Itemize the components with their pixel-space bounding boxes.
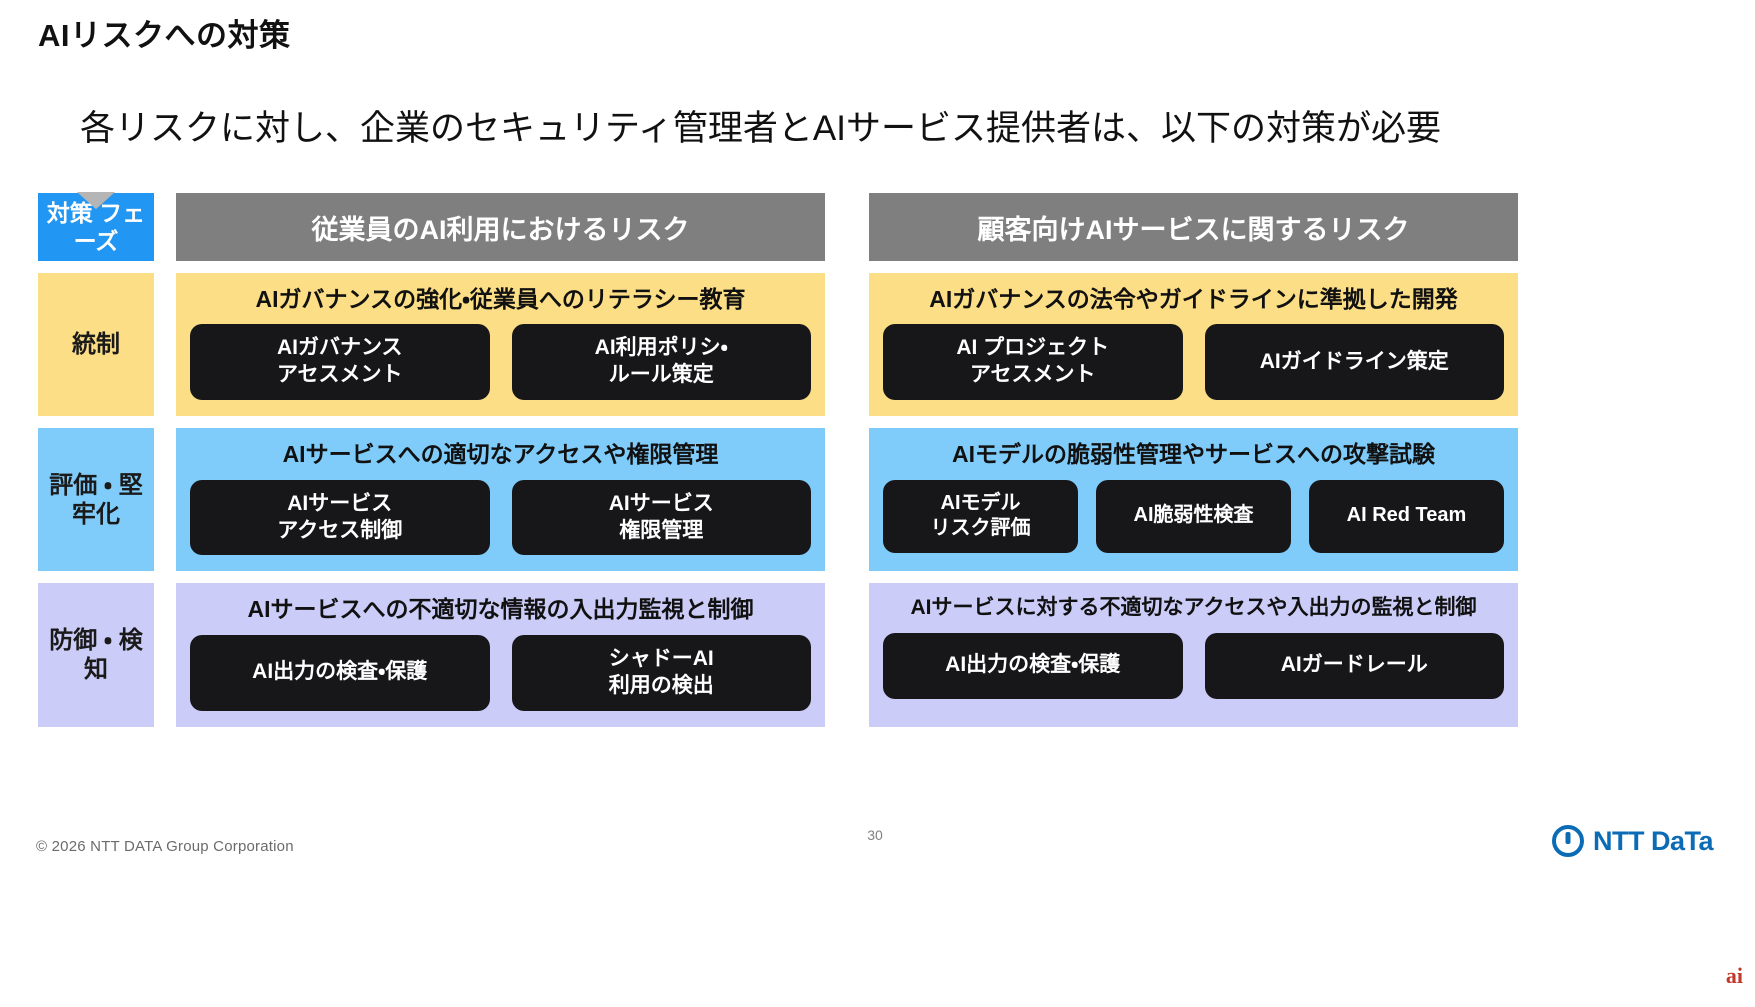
copyright-notice: © 2026 NTT DATA Group Corporation: [36, 838, 294, 855]
panel-heading: AIサービスに対する不適切なアクセスや入出力の監視と制御: [911, 596, 1477, 620]
measure-chip[interactable]: AI出力の検査・保護: [883, 633, 1183, 699]
column-header-customer-risk: 顧客向けAIサービスに関するリスク: [869, 193, 1518, 261]
panel-heading: AIサービスへの適切なアクセスや権限管理: [283, 441, 719, 467]
spacer: [825, 193, 869, 261]
panel-heading: AIガバナンスの法令やガイドラインに準拠した開発: [929, 286, 1458, 312]
measure-chip[interactable]: AI脆弱性検査: [1096, 480, 1291, 553]
measure-chip-row: AIガバナンス アセスメント AI利用ポリシ・ ルール策定: [190, 324, 811, 400]
matrix-header-row: 対策 フェーズ 従業員のAI利用におけるリスク 顧客向けAIサービスに関するリス…: [38, 193, 1518, 261]
panel-control-employee: AIガバナンスの強化・従業員へのリテラシー教育 AIガバナンス アセスメント A…: [176, 273, 825, 416]
spacer: [825, 428, 869, 571]
panel-heading: AIガバナンスの強化・従業員へのリテラシー教育: [256, 286, 746, 312]
phase-label-defense: 防御 ・ 検知: [38, 583, 154, 726]
spacer: [154, 193, 176, 261]
measure-chip[interactable]: AIガードレール: [1205, 633, 1505, 699]
matrix-row-control: 統制 AIガバナンスの強化・従業員へのリテラシー教育 AIガバナンス アセスメン…: [38, 273, 1518, 416]
measure-chip[interactable]: シャドーAI 利用の検出: [512, 635, 812, 711]
spacer: [38, 261, 1518, 273]
measure-chip-row: AI プロジェクト アセスメント AIガイドライン策定: [883, 324, 1504, 400]
page-title: AIリスクへの対策: [38, 10, 291, 55]
panel-heading: AIモデルの脆弱性管理やサービスへの攻撃試験: [952, 441, 1435, 467]
panel-assessment-employee: AIサービスへの適切なアクセスや権限管理 AIサービス アクセス制御 AIサービ…: [176, 428, 825, 571]
phase-flow-arrow-icon: [77, 192, 115, 209]
measure-chip-row: AI出力の検査・保護 シャドーAI 利用の検出: [190, 635, 811, 711]
panel-defense-employee: AIサービスへの不適切な情報の入出力監視と制御 AI出力の検査・保護 シャドーA…: [176, 583, 825, 726]
spacer: [154, 273, 176, 416]
phase-label-control: 統制: [38, 273, 154, 416]
spacer: [825, 273, 869, 416]
ntt-data-logo: NTT DaTa: [1552, 825, 1713, 857]
measure-chip[interactable]: AIガバナンス アセスメント: [190, 324, 490, 400]
measure-chip[interactable]: AI出力の検査・保護: [190, 635, 490, 711]
matrix-row-assessment: 評価 ・ 堅牢化 AIサービスへの適切なアクセスや権限管理 AIサービス アクセ…: [38, 428, 1518, 571]
ntt-data-wordmark: NTT DaTa: [1593, 826, 1713, 857]
spacer: [154, 583, 176, 726]
measure-chip[interactable]: AIガイドライン策定: [1205, 324, 1505, 400]
panel-control-customer: AIガバナンスの法令やガイドラインに準拠した開発 AI プロジェクト アセスメン…: [869, 273, 1518, 416]
measure-chip[interactable]: AI プロジェクト アセスメント: [883, 324, 1183, 400]
spacer: [154, 428, 176, 571]
ntt-data-mark-icon: [1552, 825, 1584, 857]
measure-chip-row: AI出力の検査・保護 AIガードレール: [883, 633, 1504, 699]
slide-subtitle: 各リスクに対し、企業のセキュリティ管理者とAIサービス提供者は、以下の対策が必要: [80, 100, 1441, 151]
measure-chip-row: AIサービス アクセス制御 AIサービス 権限管理: [190, 480, 811, 556]
measure-chip[interactable]: AIサービス アクセス制御: [190, 480, 490, 556]
panel-heading: AIサービスへの不適切な情報の入出力監視と制御: [248, 596, 754, 622]
spacer: [825, 583, 869, 726]
measure-chip-row: AIモデル リスク評価 AI脆弱性検査 AI Red Team: [883, 480, 1504, 553]
countermeasure-matrix: 対策 フェーズ 従業員のAI利用におけるリスク 顧客向けAIサービスに関するリス…: [38, 193, 1518, 727]
phase-label-assessment: 評価 ・ 堅牢化: [38, 428, 154, 571]
panel-assessment-customer: AIモデルの脆弱性管理やサービスへの攻撃試験 AIモデル リスク評価 AI脆弱性…: [869, 428, 1518, 571]
panel-defense-customer: AIサービスに対する不適切なアクセスや入出力の監視と制御 AI出力の検査・保護 …: [869, 583, 1518, 726]
measure-chip[interactable]: AI利用ポリシ・ ルール策定: [512, 324, 812, 400]
measure-chip[interactable]: AI Red Team: [1309, 480, 1504, 553]
measure-chip[interactable]: AIサービス 権限管理: [512, 480, 812, 556]
spacer: [38, 571, 1518, 583]
measure-chip[interactable]: AIモデル リスク評価: [883, 480, 1078, 553]
spacer: [38, 416, 1518, 428]
matrix-row-defense: 防御 ・ 検知 AIサービスへの不適切な情報の入出力監視と制御 AI出力の検査・…: [38, 583, 1518, 726]
page-number: 30: [867, 827, 883, 843]
column-header-employee-risk: 従業員のAI利用におけるリスク: [176, 193, 825, 261]
ai-corner-mark: ai: [1726, 963, 1743, 989]
